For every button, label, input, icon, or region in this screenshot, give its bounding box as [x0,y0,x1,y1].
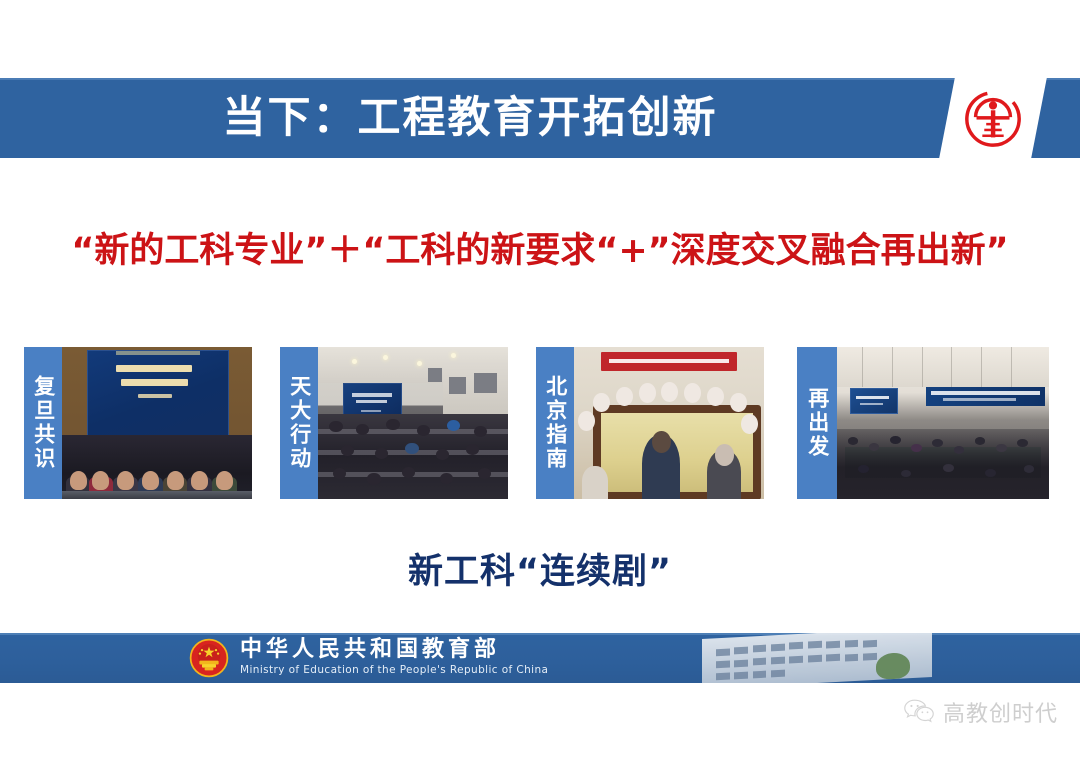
photo-image-restart [837,347,1049,499]
photo-label: 天大行动 [280,347,318,499]
slide-header-bar: 当下：工程教育开拓创新 [0,78,1080,158]
headline-text: “新的工科专业”＋“工科的新要求“+”深度交叉融合再出新” [0,222,1080,273]
page-title: 当下：工程教育开拓创新 [0,78,940,158]
watermark-text: 高教创时代 [943,696,1058,728]
wechat-icon [903,697,935,727]
photo-label: 北京指南 [536,347,574,499]
china-national-emblem-icon [188,637,230,679]
ministry-name-cn: 中华人民共和国教育部 [240,638,680,663]
photo-gallery: 复旦共识 [0,347,1080,499]
photo-card: 北京指南 [536,347,764,499]
photo-card: 复旦共识 [24,347,252,499]
wechat-watermark: 高教创时代 [903,697,1058,727]
ministry-building-image [702,633,932,683]
photo-image-tianda [318,347,508,499]
photo-label: 复旦共识 [24,347,62,499]
photo-image-fudan [62,347,252,499]
photo-image-beijing [574,347,764,499]
photo-card: 再出发 [797,347,1049,499]
ministry-name-en: Ministry of Education of the People's Re… [240,664,680,678]
tianjin-university-logo-icon [962,88,1024,150]
ministry-name-block: 中华人民共和国教育部 Ministry of Education of the … [240,634,680,682]
gallery-caption: 新工科“连续剧” [0,543,1080,594]
photo-label: 再出发 [797,347,837,499]
photo-card: 天大行动 [280,347,508,499]
